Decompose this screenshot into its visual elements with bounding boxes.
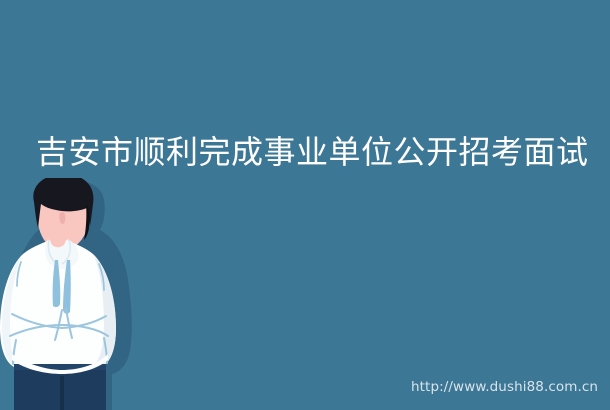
cover-image: 吉安市顺利完成事业单位公开招考面试 http://www.dushi88.com… (0, 0, 610, 410)
page-title: 吉安市顺利完成事业单位公开招考面试 (36, 130, 584, 174)
watermark-url: http://www.dushi88.com.cn (411, 379, 598, 395)
person-illustration (0, 178, 150, 410)
